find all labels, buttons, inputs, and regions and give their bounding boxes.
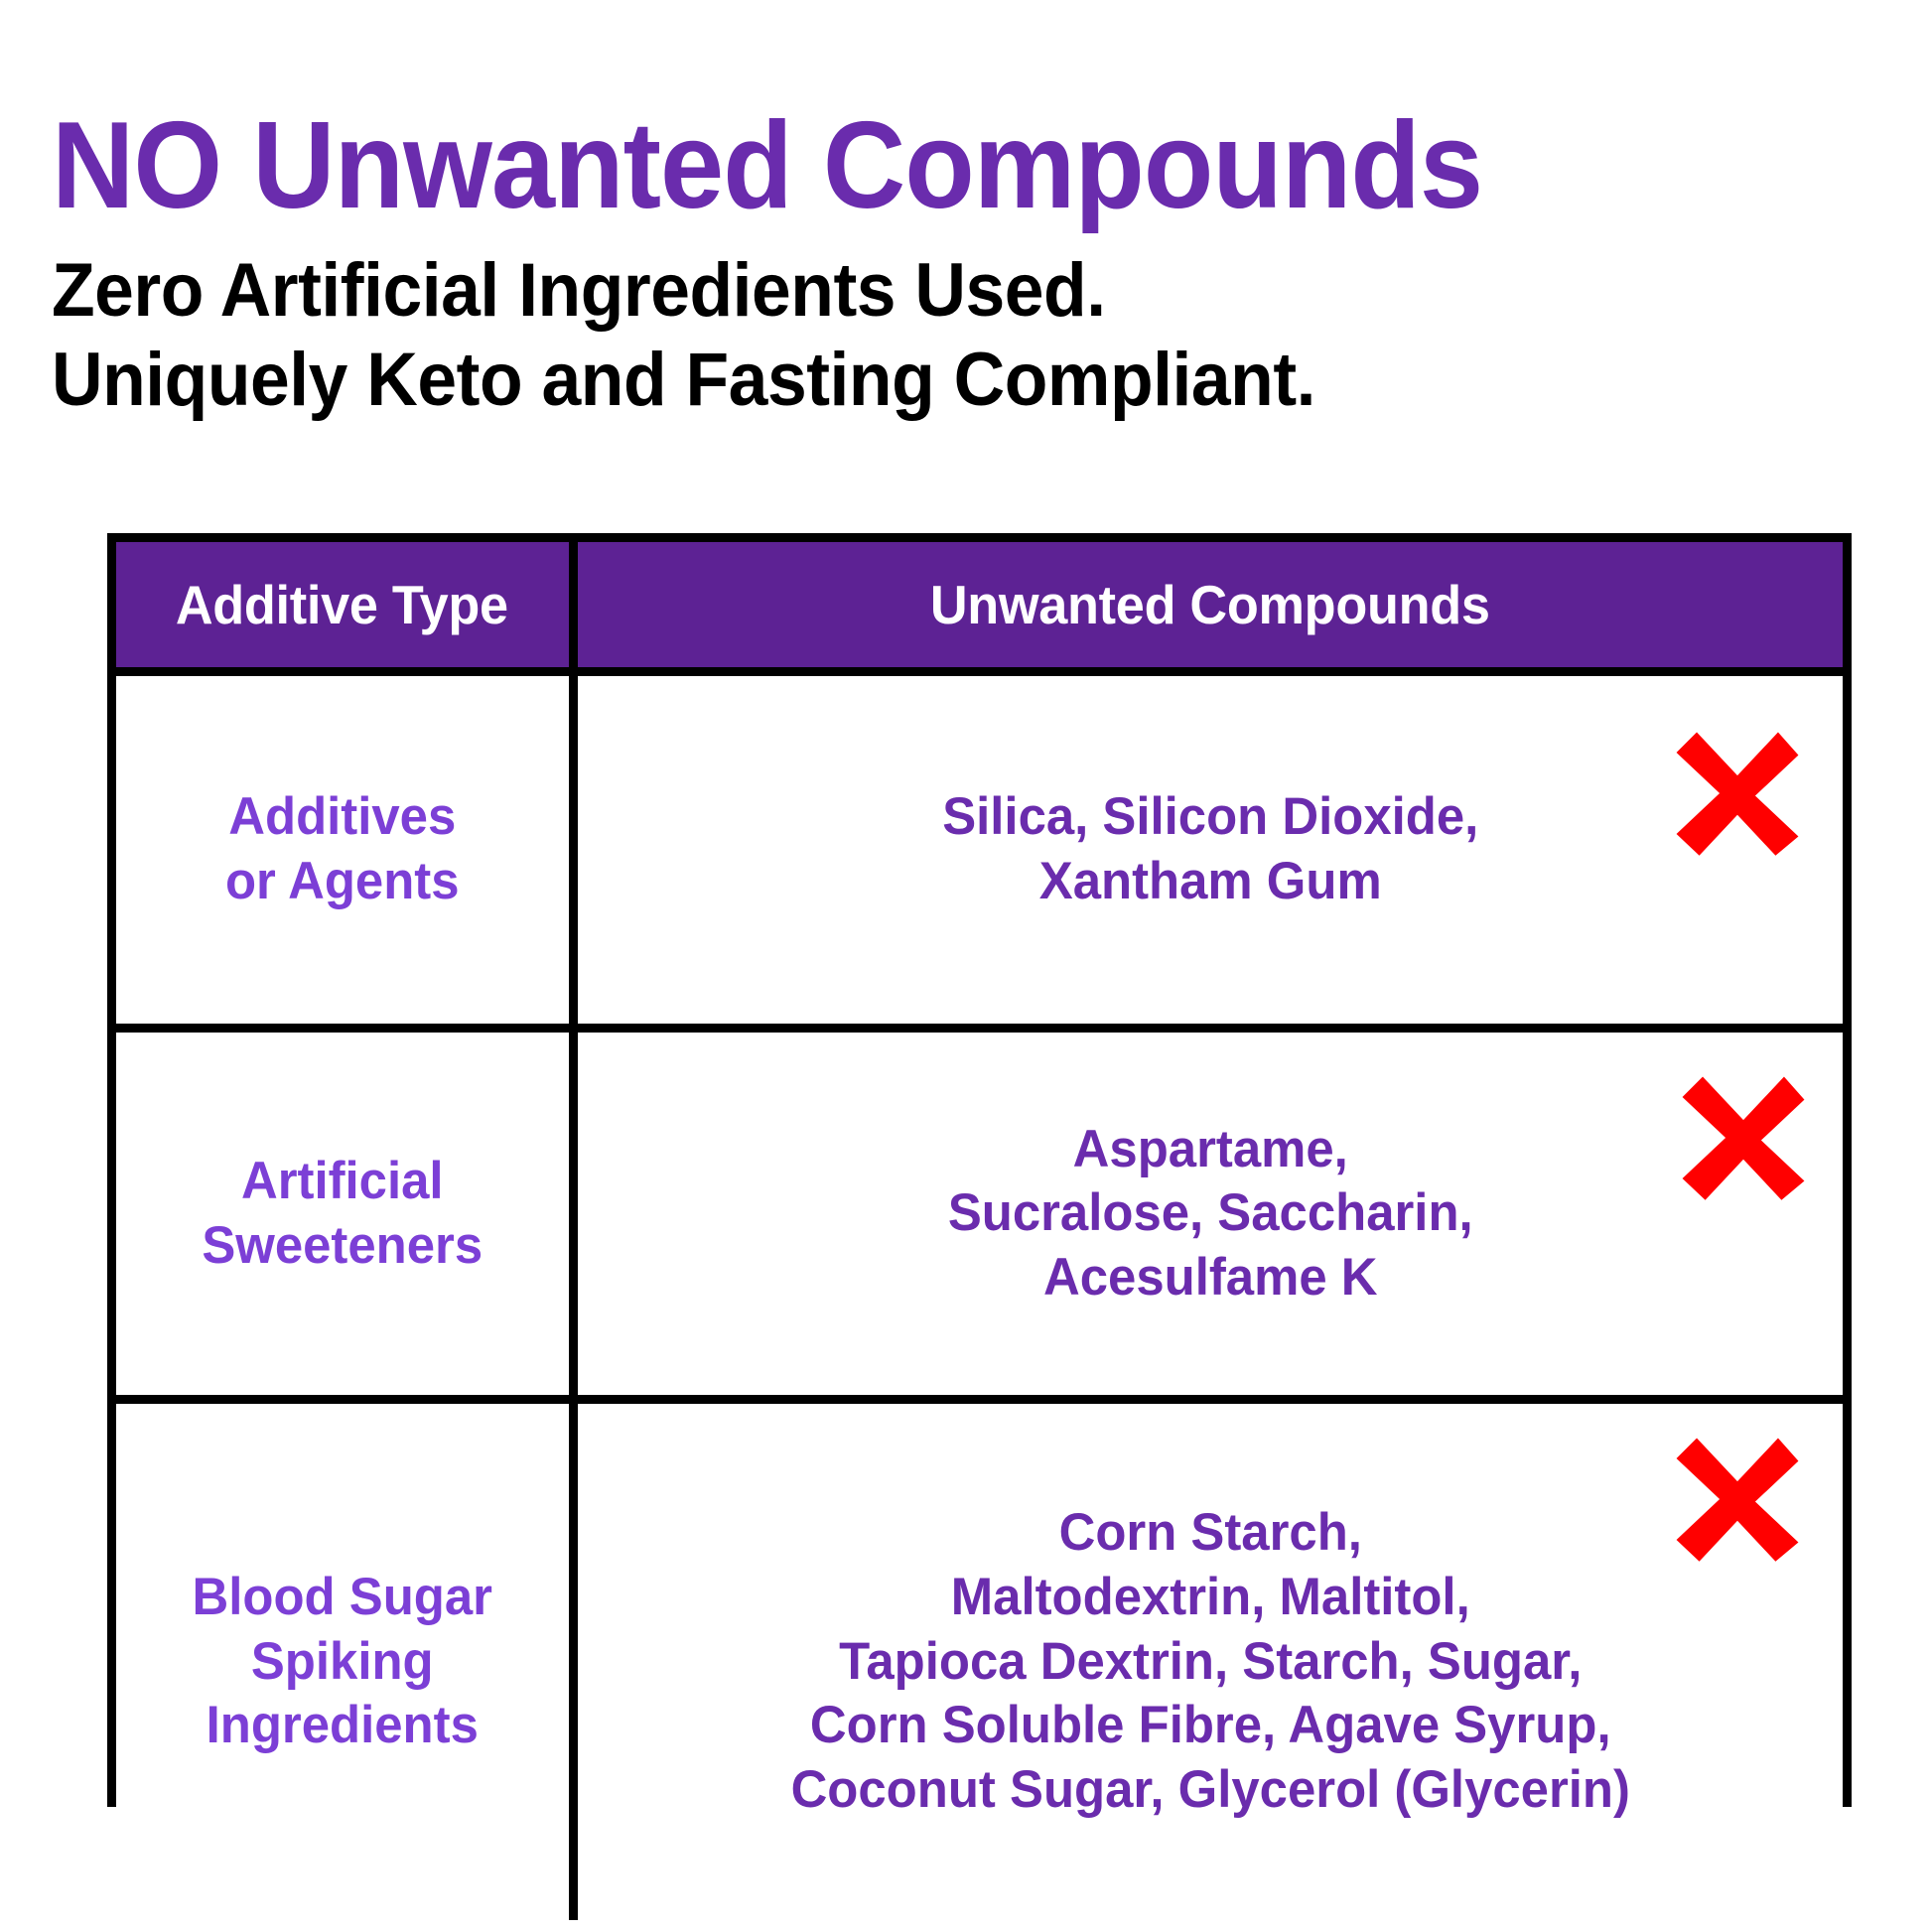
column-header-additive-type-label: Additive Type [176,573,508,636]
compound-line: Maltodextrin, Maltitol, [621,1566,1798,1630]
cell-unwanted-compounds: Corn Starch, Maltodextrin, Maltitol, Tap… [573,1400,1843,1921]
compound-list-text: Aspartame, Sucralose, Saccharin, Acesulf… [621,1118,1798,1311]
additive-type-text: Additives or Agents [139,785,546,913]
table-row: Blood Sugar Spiking Ingredients Corn Sta… [116,1400,1843,1921]
additive-type-line: Spiking [139,1630,546,1695]
additive-type-line: Sweeteners [139,1214,546,1279]
additive-type-line: Artificial [139,1150,546,1214]
cell-additive-type: Blood Sugar Spiking Ingredients [116,1400,573,1921]
table-row: Artificial Sweeteners Aspartame, Sucralo… [116,1029,1843,1400]
table: Additive Type Unwanted Compounds Additiv… [116,542,1843,1920]
compound-line: Corn Starch, [621,1501,1798,1566]
compound-list-text: Silica, Silicon Dioxide, Xantham Gum [621,785,1798,913]
unwanted-compounds-table: Additive Type Unwanted Compounds Additiv… [107,533,1852,1807]
cell-additive-type: Additives or Agents [116,672,573,1029]
compound-line: Aspartame, [621,1118,1798,1182]
additive-type-line: Blood Sugar [139,1566,546,1630]
column-header-unwanted-compounds: Unwanted Compounds [573,542,1843,672]
column-header-additive-type: Additive Type [116,542,573,672]
subtitle-line-2: Uniquely Keto and Fasting Compliant. [52,336,1685,425]
table-row: Additives or Agents Silica, Silicon Diox… [116,672,1843,1029]
compound-list-text: Corn Starch, Maltodextrin, Maltitol, Tap… [621,1501,1798,1822]
subtitle-line-1: Zero Artificial Ingredients Used. [52,246,1685,336]
table-header-row: Additive Type Unwanted Compounds [116,542,1843,672]
compound-line: Acesulfame K [621,1246,1798,1311]
additive-type-line: or Agents [139,850,546,914]
compound-line: Sucralose, Saccharin, [621,1181,1798,1246]
cell-additive-type: Artificial Sweeteners [116,1029,573,1400]
compound-line: Coconut Sugar, Glycerol (Glycerin) [621,1758,1798,1823]
compound-line: Corn Soluble Fibre, Agave Syrup, [621,1694,1798,1758]
additive-type-line: Ingredients [139,1694,546,1758]
compound-line: Xantham Gum [621,850,1798,914]
compound-line: Silica, Silicon Dioxide, [621,785,1798,850]
cell-unwanted-compounds: Aspartame, Sucralose, Saccharin, Acesulf… [573,1029,1843,1400]
additive-type-line: Additives [139,785,546,850]
cell-unwanted-compounds: Silica, Silicon Dioxide, Xantham Gum [573,672,1843,1029]
compound-line: Tapioca Dextrin, Starch, Sugar, [621,1630,1798,1695]
page-title: NO Unwanted Compounds [52,104,1621,227]
additive-type-text: Artificial Sweeteners [139,1150,546,1278]
additive-type-text: Blood Sugar Spiking Ingredients [139,1566,546,1758]
column-header-unwanted-compounds-label: Unwanted Compounds [930,573,1490,636]
infographic-page: NO Unwanted Compounds Zero Artificial In… [0,0,1932,1932]
subtitle: Zero Artificial Ingredients Used. Unique… [52,246,1685,424]
